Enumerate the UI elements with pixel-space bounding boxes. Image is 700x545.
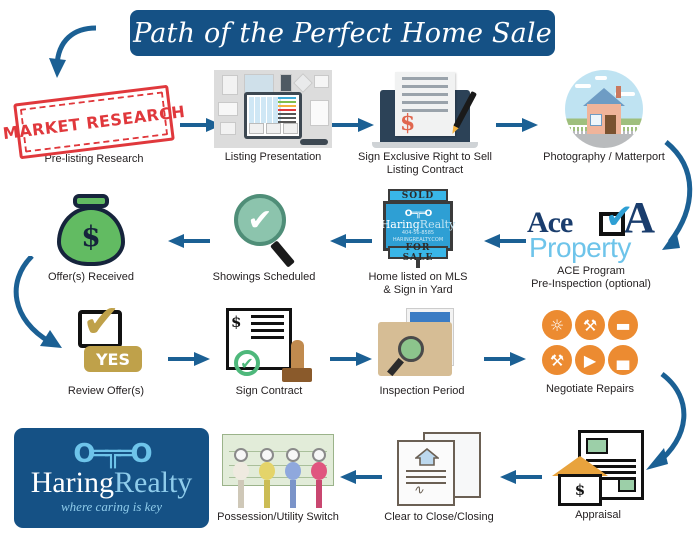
check-glyph: ✔	[247, 203, 272, 238]
envelope-thumb	[218, 102, 238, 116]
inspection-folder-icon	[378, 308, 466, 382]
dollar-sign: $	[231, 313, 241, 331]
company-name-part2: Realty	[114, 466, 192, 499]
yes-pill: YES	[84, 346, 142, 372]
tool-icon-6: ▄	[608, 345, 638, 375]
dollar-sign: $	[575, 481, 585, 499]
step-pre-listing-research: MARKET RESEARCH Pre-listing Research	[9, 72, 179, 166]
tool-icon-2: ⚒	[575, 310, 605, 340]
tool-icon-3: ▬	[608, 310, 638, 340]
diamond-thumb	[293, 73, 313, 93]
company-logo-card: O═╦═O HaringRealty where caring is key	[14, 428, 209, 528]
house-photo-circle-icon	[565, 70, 643, 148]
step-label: Appraisal	[534, 509, 662, 522]
company-tagline: where caring is key	[61, 499, 162, 515]
key-3	[285, 448, 301, 508]
doc-thumb	[222, 75, 238, 95]
page-title-banner: Path of the Perfect Home Sale	[130, 10, 555, 56]
house-value-icon: $	[552, 462, 608, 506]
haring-realty-logo: O═╦═O HaringRealty where caring is key	[14, 428, 209, 528]
ace-property-logo: A Ace ✔ Property	[527, 192, 655, 262]
company-name-part1: Haring	[31, 466, 114, 499]
tool-icon-1: ☼	[542, 310, 572, 340]
sign-contact-info: 404-56-8585 HARINGREALTY.COM	[393, 230, 443, 243]
chart-thumb	[220, 122, 236, 135]
step-label: Sign Exclusive Right to Sell Listing Con…	[352, 151, 498, 177]
layout-thumb	[244, 74, 274, 94]
appraisal-document-icon: $	[552, 430, 644, 506]
step-sign-exclusive-right: $ Sign Exclusive Right to Sell Listing C…	[352, 66, 498, 177]
tool-icon-5: ▶	[575, 345, 605, 375]
step-listing-presentation: Listing Presentation	[206, 66, 340, 164]
signature-mark: ∿	[413, 482, 424, 498]
step-label: ACE Program Pre-Inspection (optional)	[512, 265, 670, 291]
yard-sign-icon: SOLD O═╦═O HaringRealty 404-56-8585 HARI…	[379, 188, 457, 268]
magnifier-lens	[398, 336, 424, 362]
doc-front: ∿	[397, 440, 455, 506]
step-label: Showings Scheduled	[194, 271, 334, 284]
calendar-grid	[249, 97, 281, 123]
dollar-sign: $	[81, 220, 100, 253]
key-1	[233, 448, 249, 508]
sign-post	[416, 258, 420, 268]
door	[605, 115, 616, 134]
fence-right	[621, 125, 641, 134]
key-logo-icon: O═╦═O	[73, 441, 149, 467]
step-label: Possession/Utility Switch	[214, 511, 342, 524]
printer-thumb	[280, 74, 292, 92]
lens: ✔	[234, 194, 286, 246]
doc-photo-1	[586, 438, 608, 454]
company-name: HaringRealty	[31, 468, 193, 498]
chart-row	[249, 123, 298, 134]
stamp-text: MARKET RESEARCH	[2, 101, 186, 142]
keys-board-icon	[219, 432, 337, 508]
magnifier-check-icon: ✔	[228, 192, 300, 268]
roof	[552, 456, 608, 476]
step-label: Home listed on MLS & Sign in Yard	[348, 271, 488, 297]
chimney	[616, 86, 621, 98]
step-label: Inspection Period	[358, 385, 486, 398]
stamp-handle	[291, 340, 304, 370]
doc-photo-2	[618, 478, 636, 492]
window	[590, 114, 602, 126]
approval-check: ✔	[234, 350, 260, 376]
repair-tools-icon: ☼ ⚒ ▬ ⚒ ▶ ▄	[542, 310, 638, 380]
step-review-offers: ✔ YES Review Offer(s)	[46, 306, 166, 398]
stylus-icon	[300, 139, 328, 145]
cloud-3	[595, 76, 607, 80]
tablet-icon	[244, 92, 302, 139]
infographic-canvas: Path of the Perfect Home Sale MARKET RES…	[0, 0, 700, 545]
tool-icon-4: ⚒	[542, 345, 572, 375]
monitor-thumb	[314, 75, 329, 88]
presentation-board-icon	[214, 70, 332, 148]
key-2	[259, 448, 275, 508]
yes-checkbox-icon: ✔ YES	[66, 310, 146, 382]
step-label: Review Offer(s)	[46, 385, 166, 398]
sign-brand: HaringRealty	[381, 219, 456, 230]
key-4	[311, 448, 327, 508]
property-word: Property	[529, 232, 631, 264]
check-glyph: ✔	[82, 298, 121, 344]
step-label: Sign Contract	[208, 385, 330, 398]
step-clear-to-close: ∿ Clear to Close/Closing	[374, 428, 504, 524]
contract-signing-icon: $	[370, 70, 480, 148]
step-home-listed-mls: SOLD O═╦═O HaringRealty 404-56-8585 HARI…	[348, 184, 488, 297]
dollar-sign: $	[400, 110, 415, 136]
step-label: Listing Presentation	[206, 151, 340, 164]
closing-documents-icon: ∿	[397, 432, 481, 508]
handle	[270, 240, 295, 267]
check-icon: ✔	[605, 200, 631, 230]
page-title: Path of the Perfect Home Sale	[133, 18, 552, 49]
house-icon	[415, 448, 439, 466]
market-research-stamp-icon: MARKET RESEARCH	[13, 85, 175, 160]
stamped-contract-icon: $ ✔	[226, 308, 312, 382]
step-label: Clear to Close/Closing	[374, 511, 504, 524]
list-bars	[278, 97, 296, 123]
step-showings-scheduled: ✔ Showings Scheduled	[194, 186, 334, 284]
laptop-base	[372, 142, 478, 148]
report-thumb	[310, 100, 329, 126]
arrow-right-icon-4	[168, 350, 210, 368]
step-appraisal: $ Appraisal	[534, 426, 662, 522]
fence-left	[567, 125, 587, 134]
stamp-base	[282, 368, 312, 382]
step-sign-contract: $ ✔ Sign Contract	[208, 306, 330, 398]
step-possession-utility-switch: Possession/Utility Switch	[214, 430, 342, 524]
bag-neck	[73, 194, 109, 208]
step-inspection-period: Inspection Period	[358, 306, 486, 398]
step-ace-program: A Ace ✔ Property ACE Program Pre-Inspect…	[512, 186, 670, 291]
house-body: $	[558, 474, 602, 506]
